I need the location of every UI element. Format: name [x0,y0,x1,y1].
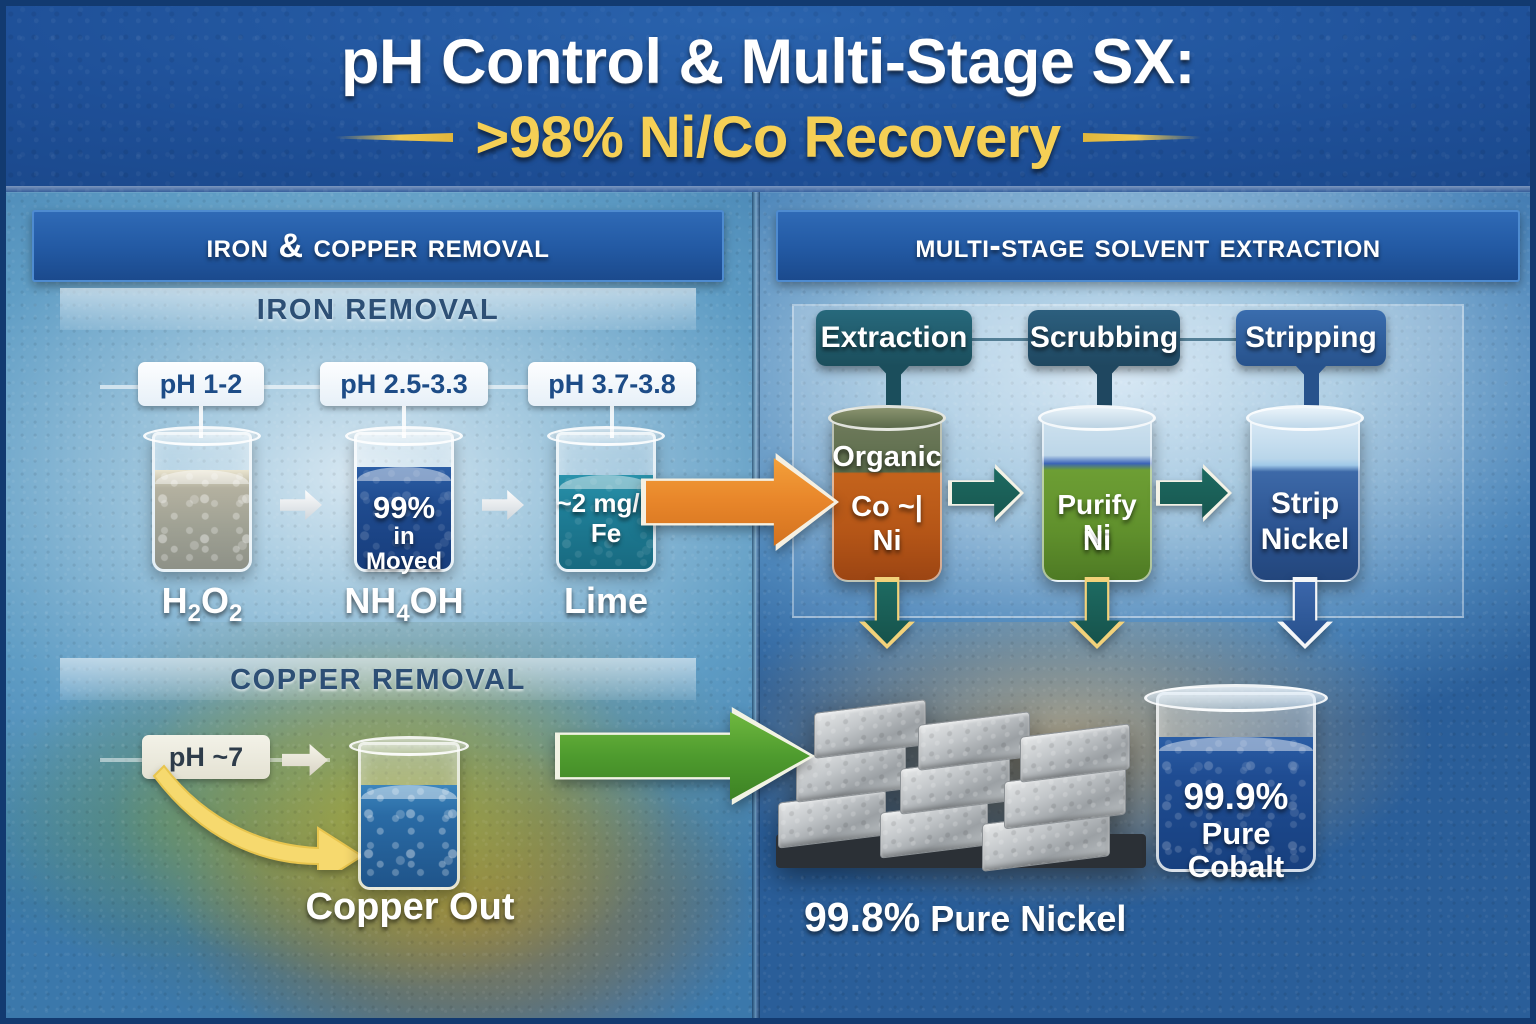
tank-extraction-line2: Co ~| [832,492,942,523]
arrow-copper-to-products [560,712,810,800]
infographic-canvas: pH Control & Multi-Stage SX: >98% Ni/Co … [0,0,1536,1024]
tank-scrubbing-rim [1038,405,1156,431]
nh4oh-mid: OH [410,580,464,621]
tank-scrubbing: Purify Ni Ni [1042,414,1152,582]
cobalt-purity-text: Pure Cobalt [1156,818,1316,883]
tank-extraction-line1: Organic [832,442,942,473]
beaker-h2o2-liquid [155,470,249,569]
panel-divider [752,192,760,1024]
ph-chip-3[interactable]: pH 3.7-3.8 [528,362,696,406]
badge-scrubbing[interactable]: Scrubbing [1028,310,1180,366]
tank-scrubbing-line2: Ni [1042,526,1152,556]
beaker-lime-rim [547,426,665,446]
beaker-cobalt-product: 99.9% Pure Cobalt [1156,692,1316,872]
badge-stripping[interactable]: Stripping [1236,310,1386,366]
beaker-nh4oh-rim [345,426,463,446]
beaker-cobalt-rim [1144,684,1328,712]
section-header-solvent-extraction-label: Multi-Stage Solvent Extraction [915,227,1380,266]
tank-extraction-line3: Ni [832,526,942,557]
left-panel: Iron & Copper Removal IRON REMOVAL pH 1-… [0,192,756,1024]
beaker-nh4oh-value: 99% [354,492,454,525]
nh4oh-main: NH [344,580,396,621]
beaker-nh4oh-caption: NH4OH [314,580,494,628]
yellow-curved-arrow [150,760,370,870]
tank-extraction: Organic Co ~| Ni [832,414,942,582]
subtitle-row: >98% Ni/Co Recovery [0,104,1536,171]
cobalt-purity-value: 99.9% [1156,778,1316,817]
ingot [814,699,926,759]
beaker-lime-caption: Lime [516,580,696,622]
h2o2-sub1: 2 [188,600,201,627]
badge-extraction[interactable]: Extraction [816,310,972,366]
beaker-h2o2-bubbles [155,470,249,569]
beaker-h2o2-rim [143,426,261,446]
nickel-ingot-stack [768,684,1158,884]
page-subtitle: >98% Ni/Co Recovery [475,104,1060,171]
down-arrow-stripping [1282,582,1328,644]
ph-chip-2[interactable]: pH 2.5-3.3 [320,362,488,406]
beaker-copper-glass [358,742,460,890]
down-arrow-extraction [864,582,910,644]
ph-chip-1[interactable]: pH 1-2 [138,362,264,406]
nickel-purity-text: Pure Nickel [920,898,1126,939]
rule-left-decoration [335,133,453,142]
beaker-copper-rim [349,736,469,756]
right-panel: Multi-Stage Solvent Extraction Extractio… [756,192,1536,1024]
arrow-iron-to-solvent-extraction [646,458,834,546]
h2o2-main: H [162,580,188,621]
nickel-purity-value: 99.8% [804,894,920,940]
tank-stripping-line1: Strip [1250,488,1360,520]
down-arrow-scrubbing [1074,582,1120,644]
beaker-h2o2 [152,432,252,572]
arrow-beaker1-to-2 [280,490,322,520]
beaker-copper-bubbles [361,785,457,887]
header-band: pH Control & Multi-Stage SX: >98% Ni/Co … [0,0,1536,192]
rule-right-decoration [1083,133,1201,142]
header-bottom-edge [0,186,1536,193]
section-header-solvent-extraction: Multi-Stage Solvent Extraction [776,210,1520,282]
beaker-copper-liquid [361,785,457,887]
page-title: pH Control & Multi-Stage SX: [0,26,1536,98]
badge-stripping-label: Stripping [1245,321,1377,355]
section-header-iron-copper: Iron & Copper Removal [32,210,724,282]
badge-scrubbing-label: Scrubbing [1030,321,1178,355]
beaker-nh4oh-note: in Moyed [354,524,454,574]
h2o2-sub2: 2 [229,600,242,627]
arrow-beaker2-to-3 [482,490,524,520]
ingot [918,711,1030,771]
section-header-iron-copper-label: Iron & Copper Removal [207,227,550,266]
arrow-extraction-to-scrubbing [952,468,1020,518]
copper-removal-subtitle: COPPER REMOVAL [60,664,696,697]
iron-removal-subtitle: IRON REMOVAL [60,294,696,327]
nickel-purity-label: 99.8% Pure Nickel [804,894,1126,941]
tank-stripping-rim [1246,405,1364,431]
arrow-scrubbing-to-stripping [1160,468,1228,518]
beaker-copper [358,742,460,890]
beaker-h2o2-caption: H2O2 [112,580,292,628]
h2o2-mid: O [201,580,229,621]
nh4oh-sub1: 4 [396,600,409,627]
tank-stripping: Strip Nickel [1250,414,1360,582]
tank-extraction-rim [828,405,946,431]
badge-extraction-label: Extraction [821,321,968,355]
beaker-h2o2-glass [152,432,252,572]
beaker-nh4oh: 99% in Moyed [354,432,454,572]
copper-out-caption: Copper Out [300,886,520,929]
tank-stripping-line2: Nickel [1250,524,1360,556]
